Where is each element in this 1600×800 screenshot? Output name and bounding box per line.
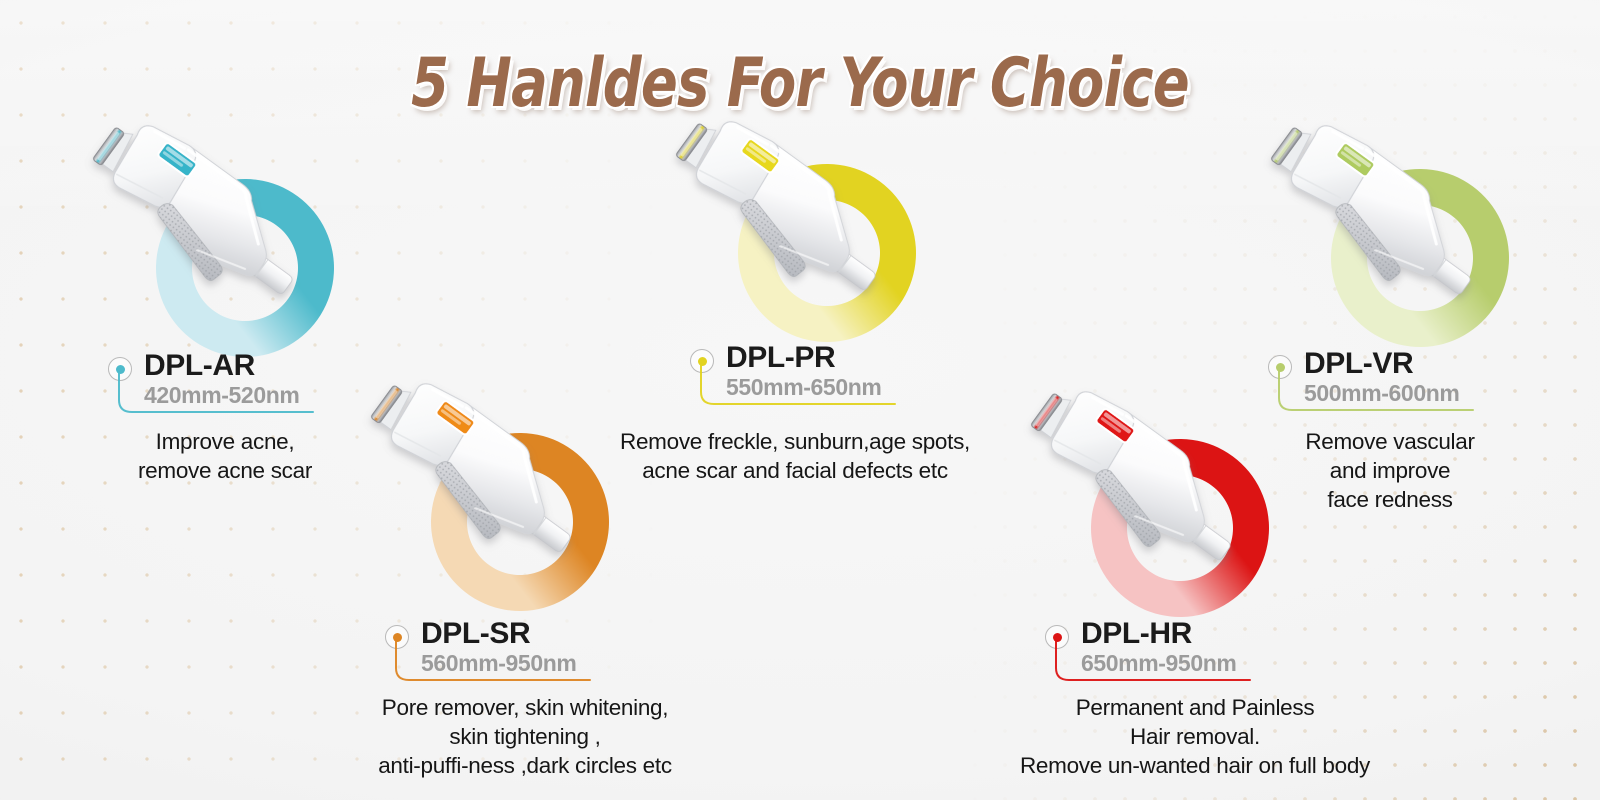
handle-name-dpl-vr: DPL-VR — [1304, 347, 1413, 380]
page-title: 5 Hanldes For Your Choice — [160, 44, 1440, 123]
marker-dot-icon — [108, 357, 132, 381]
ipl-handpiece-icon — [645, 118, 900, 318]
marker-dot-icon — [1268, 355, 1292, 379]
handle-description-dpl-vr: Remove vascular and improve face redness — [1240, 428, 1540, 514]
ipl-handpiece-icon — [62, 122, 317, 322]
marker-dot-icon — [690, 349, 714, 373]
handle-name-dpl-pr: DPL-PR — [726, 341, 835, 374]
handle-label-dpl-vr: DPL-VR 500mm-600nm — [1268, 348, 1459, 407]
handle-description-dpl-pr: Remove freckle, sunburn,age spots, acne … — [560, 428, 1030, 486]
handle-wavelength-dpl-pr: 550mm-650nm — [726, 374, 881, 401]
handle-wavelength-dpl-ar: 420mm-520nm — [144, 382, 299, 409]
handle-name-dpl-hr: DPL-HR — [1081, 617, 1192, 650]
handle-label-dpl-ar: DPL-AR 420mm-520nm — [108, 350, 299, 409]
handle-label-row-dpl-sr: DPL-SR 560mm-950nm — [385, 618, 576, 677]
ipl-handpiece-icon — [340, 380, 595, 580]
handle-device-dpl-sr — [340, 380, 590, 570]
handle-label-texts-dpl-hr: DPL-HR 650mm-950nm — [1081, 618, 1236, 677]
handle-label-texts-dpl-sr: DPL-SR 560mm-950nm — [421, 618, 576, 677]
handle-label-texts-dpl-pr: DPL-PR 550mm-650nm — [726, 342, 881, 401]
handle-label-dpl-hr: DPL-HR 650mm-950nm — [1045, 618, 1236, 677]
handle-description-dpl-hr: Permanent and Painless Hair removal. Rem… — [970, 694, 1420, 780]
handle-name-dpl-ar: DPL-AR — [144, 349, 255, 382]
handle-description-dpl-sr: Pore remover, skin whitening, skin tight… — [330, 694, 720, 780]
marker-dot-icon — [385, 625, 409, 649]
handle-label-row-dpl-pr: DPL-PR 550mm-650nm — [690, 342, 881, 401]
marker-dot-icon — [1045, 625, 1069, 649]
handle-label-dpl-pr: DPL-PR 550mm-650nm — [690, 342, 881, 401]
handle-label-row-dpl-ar: DPL-AR 420mm-520nm — [108, 350, 299, 409]
handle-wavelength-dpl-vr: 500mm-600nm — [1304, 380, 1459, 407]
handle-device-dpl-hr — [1000, 388, 1250, 578]
handle-wavelength-dpl-hr: 650mm-950nm — [1081, 650, 1236, 677]
handle-label-dpl-sr: DPL-SR 560mm-950nm — [385, 618, 576, 677]
ipl-handpiece-icon — [1240, 122, 1495, 322]
handle-device-dpl-vr — [1240, 122, 1490, 312]
handle-device-dpl-pr — [645, 118, 895, 308]
page-title-text: 5 Hanldes For Your Choice — [411, 44, 1189, 123]
handle-label-texts-dpl-ar: DPL-AR 420mm-520nm — [144, 350, 299, 409]
handle-wavelength-dpl-sr: 560mm-950nm — [421, 650, 576, 677]
handle-device-dpl-ar — [62, 122, 312, 312]
handle-label-texts-dpl-vr: DPL-VR 500mm-600nm — [1304, 348, 1459, 407]
handle-name-dpl-sr: DPL-SR — [421, 617, 530, 650]
ipl-handpiece-icon — [1000, 388, 1255, 588]
handle-label-row-dpl-hr: DPL-HR 650mm-950nm — [1045, 618, 1236, 677]
handle-label-row-dpl-vr: DPL-VR 500mm-600nm — [1268, 348, 1459, 407]
